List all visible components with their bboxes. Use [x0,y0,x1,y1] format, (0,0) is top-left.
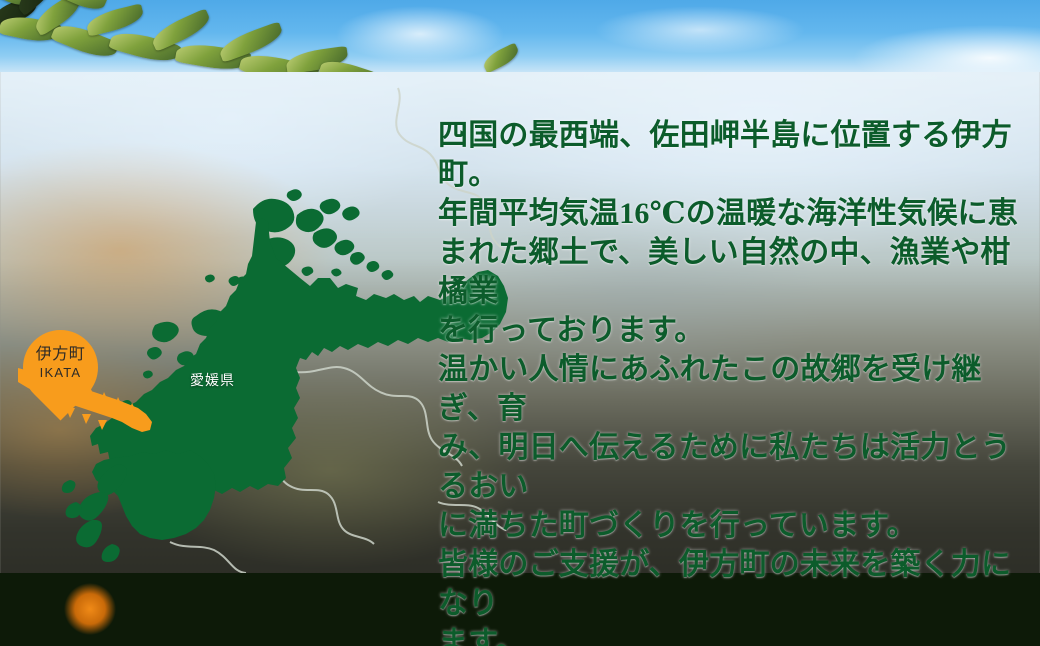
ikata-map-pin[interactable]: 伊方町 IKATA [23,330,98,425]
copy-line: 温かい人情にあふれたこの故郷を受け継ぎ、育 [438,350,1020,428]
copy-line: を行っております。 [438,311,1020,350]
citrus-leaves-icon [0,0,410,72]
copy-line: 年間平均気温16℃の温暖な海洋性気候に恵 [438,194,1020,233]
intro-copy: 四国の最西端、佐田岬半島に位置する伊方町。年間平均気温16℃の温暖な海洋性気候に… [438,116,1020,646]
copy-line: まれた郷土で、美しい自然の中、漁業や柑橘業 [438,233,1020,311]
pin-town-en: IKATA [23,366,98,381]
copy-line: 皆様のご支援が、伊方町の未来を築く力になり [438,545,1020,623]
southwest-coast [62,464,127,562]
page-root: 愛媛県 伊方町 IKATA [0,0,1040,646]
copy-line: 四国の最西端、佐田岬半島に位置する伊方町。 [438,116,1020,194]
ehime-south [92,450,216,540]
copy-line: に満ちた町づくりを行っています。 [438,506,1020,545]
copy-line: ます。 [438,623,1020,646]
pin-label: 伊方町 IKATA [23,346,98,380]
pin-town-jp: 伊方町 [23,346,98,364]
copy-line: み、明日へ伝えるために私たちは活力とうるおい [438,428,1020,506]
top-banner-photo [0,0,1040,72]
prefecture-label: 愛媛県 [190,370,235,390]
